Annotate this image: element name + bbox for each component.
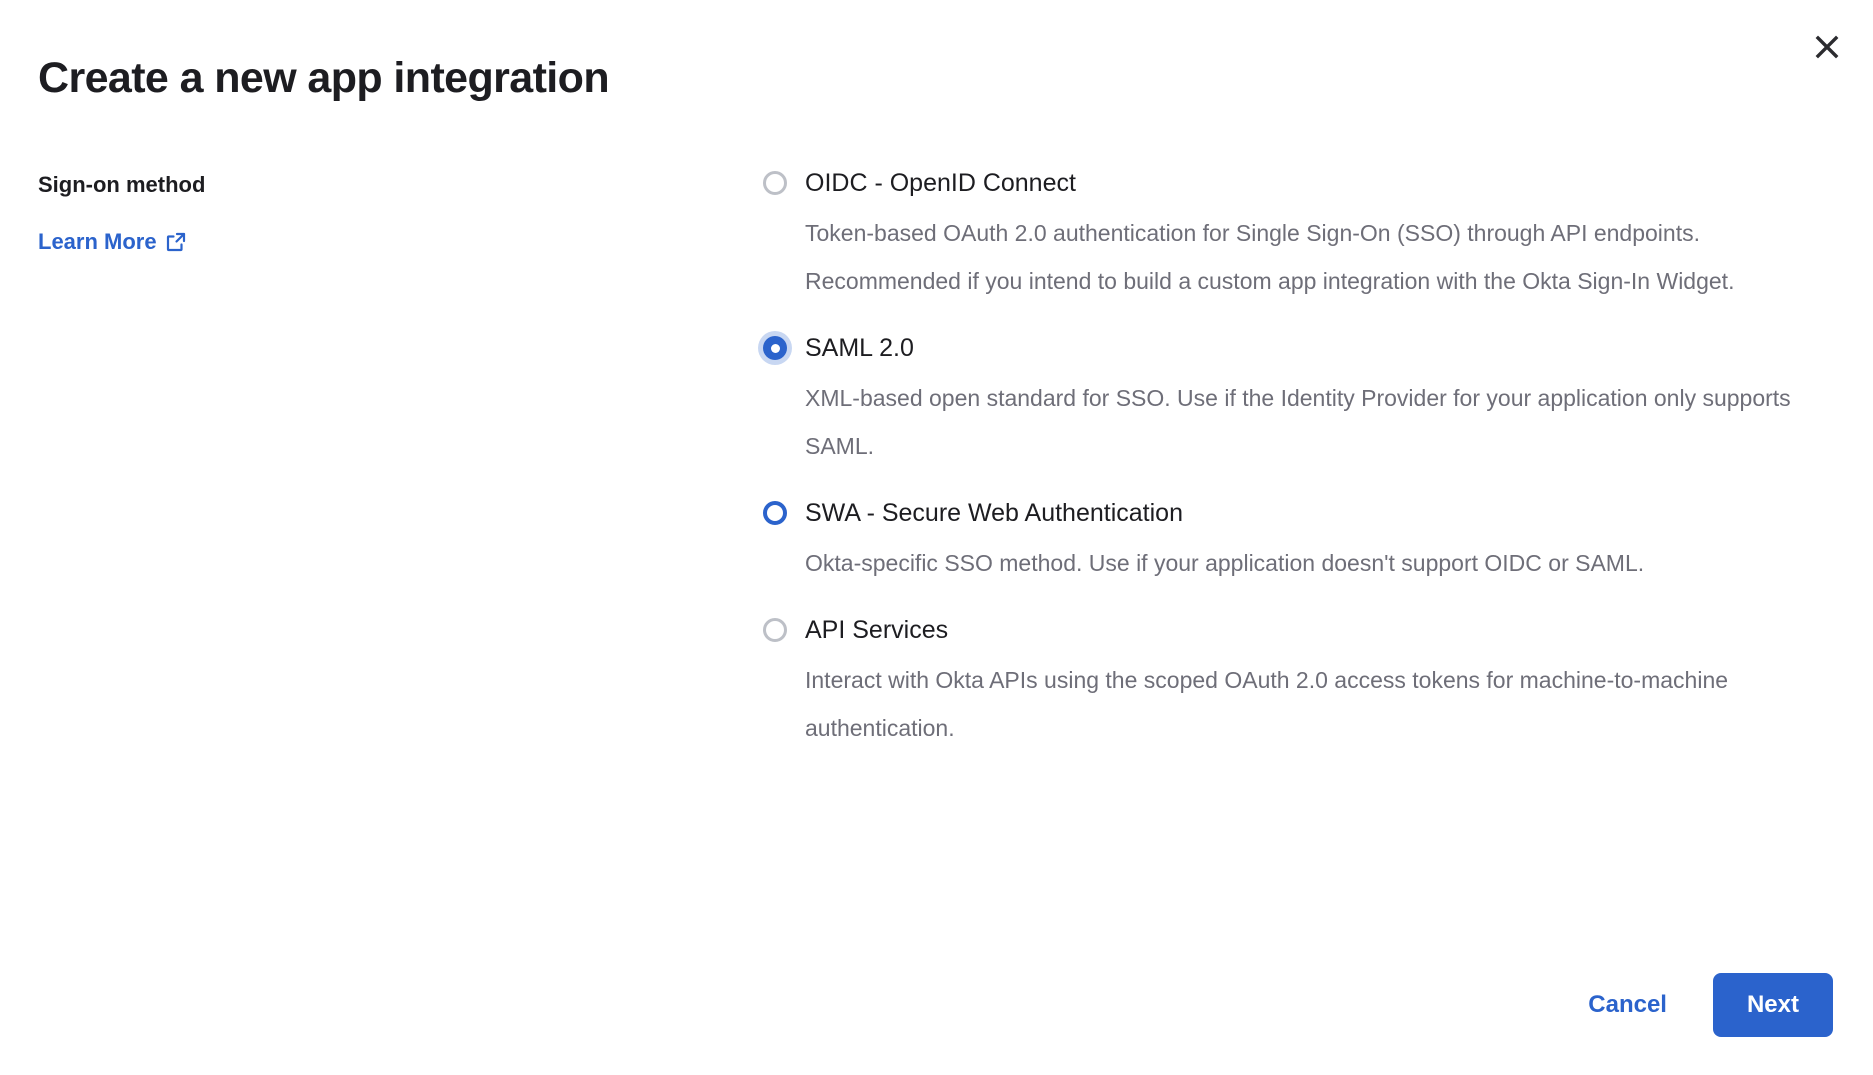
- close-icon: [1814, 34, 1840, 63]
- radio-saml[interactable]: [763, 336, 787, 360]
- option-api-services[interactable]: API Services Interact with Okta APIs usi…: [763, 615, 1833, 752]
- option-swa-header: SWA - Secure Web Authentication: [763, 498, 1833, 528]
- close-dialog-button[interactable]: [1803, 24, 1851, 72]
- option-oidc-label: OIDC - OpenID Connect: [805, 168, 1076, 198]
- option-saml[interactable]: SAML 2.0 XML-based open standard for SSO…: [763, 333, 1833, 470]
- option-api-services-header: API Services: [763, 615, 1833, 645]
- next-button[interactable]: Next: [1713, 973, 1833, 1037]
- external-link-icon: [166, 232, 186, 252]
- sign-on-method-label: Sign-on method: [38, 170, 598, 200]
- create-app-integration-dialog: Create a new app integration Sign-on met…: [0, 0, 1873, 1075]
- option-oidc-header: OIDC - OpenID Connect: [763, 168, 1833, 198]
- option-saml-label: SAML 2.0: [805, 333, 914, 363]
- learn-more-label: Learn More: [38, 227, 157, 257]
- radio-oidc[interactable]: [763, 171, 787, 195]
- dialog-footer: Cancel Next: [1570, 973, 1833, 1037]
- option-saml-header: SAML 2.0: [763, 333, 1833, 363]
- option-api-services-description: Interact with Okta APIs using the scoped…: [805, 656, 1833, 752]
- sign-on-method-section: Sign-on method Learn More: [38, 170, 598, 257]
- cancel-button[interactable]: Cancel: [1570, 977, 1685, 1033]
- sign-on-method-radio-group: OIDC - OpenID Connect Token-based OAuth …: [763, 168, 1833, 752]
- radio-api-services[interactable]: [763, 618, 787, 642]
- option-swa-label: SWA - Secure Web Authentication: [805, 498, 1183, 528]
- option-swa[interactable]: SWA - Secure Web Authentication Okta-spe…: [763, 498, 1833, 587]
- option-saml-description: XML-based open standard for SSO. Use if …: [805, 374, 1833, 470]
- radio-swa[interactable]: [763, 501, 787, 525]
- option-api-services-label: API Services: [805, 615, 948, 645]
- page-title: Create a new app integration: [38, 52, 609, 104]
- option-oidc[interactable]: OIDC - OpenID Connect Token-based OAuth …: [763, 168, 1833, 305]
- option-oidc-description: Token-based OAuth 2.0 authentication for…: [805, 209, 1833, 305]
- learn-more-link[interactable]: Learn More: [38, 227, 186, 257]
- option-swa-description: Okta-specific SSO method. Use if your ap…: [805, 539, 1833, 587]
